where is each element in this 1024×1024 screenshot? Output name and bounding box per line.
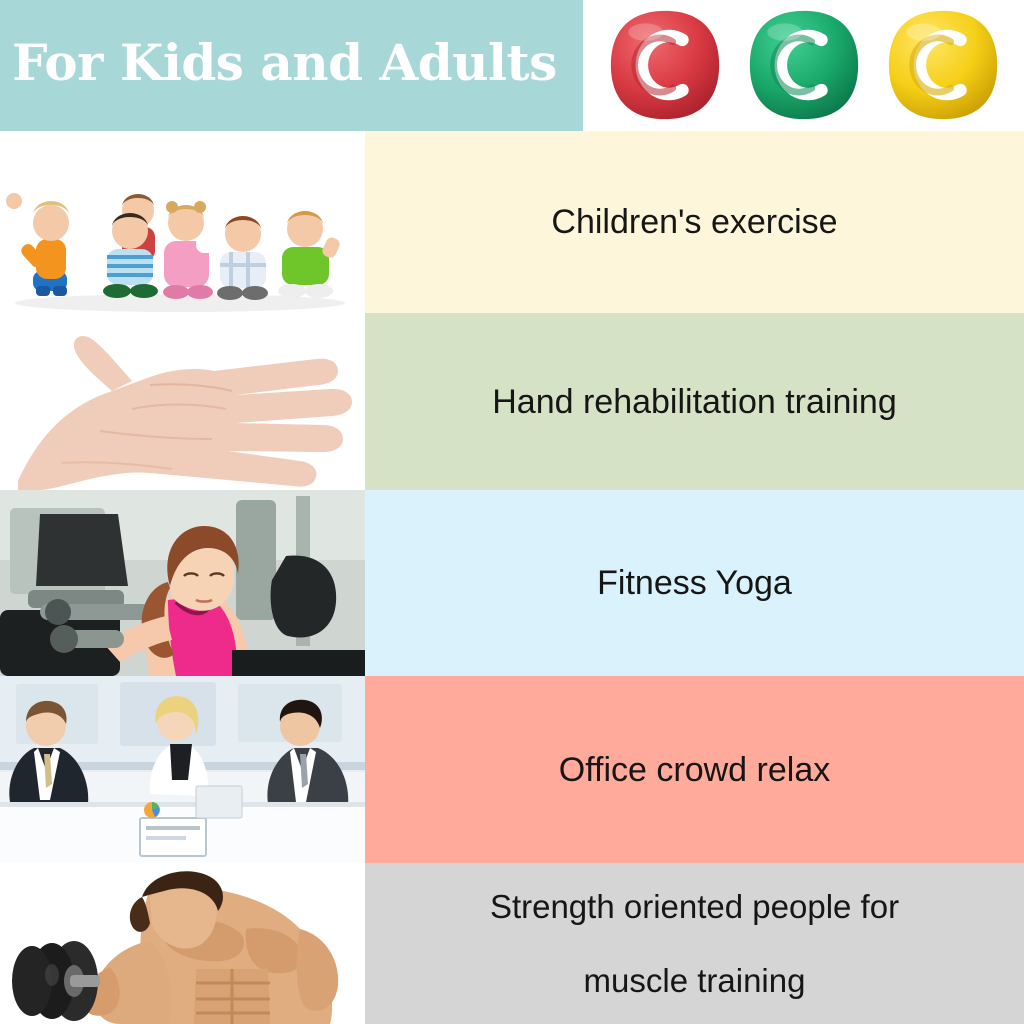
bodybuilder-illustration: [0, 863, 365, 1024]
usecase-label-cell-rehab: Hand rehabilitation training: [365, 313, 1024, 490]
photo-open-palm-hand: [0, 313, 365, 490]
office-illustration: [0, 676, 365, 863]
usecase-row-rehab: Hand rehabilitation training: [0, 313, 1024, 490]
usecase-label: Children's exercise: [537, 195, 851, 249]
usecase-label: Office crowd relax: [545, 743, 844, 797]
usecase-label: Hand rehabilitation training: [478, 375, 910, 429]
usecase-label-line2: muscle training: [584, 962, 806, 999]
gym-woman-illustration: [0, 490, 365, 676]
header-banner: For Kids and Adults: [0, 0, 583, 131]
usecase-label: Strength oriented people for muscle trai…: [476, 870, 913, 1018]
usecase-label-cell-office: Office crowd relax: [365, 676, 1024, 863]
usecase-label-line1: Strength oriented people for: [490, 888, 899, 925]
product-hero-strip: [583, 0, 1024, 131]
grip-product-green: [746, 7, 862, 123]
c-shaped-grip-icon: [607, 7, 723, 123]
usecase-row-office: Office crowd relax: [0, 676, 1024, 863]
c-shaped-grip-icon: [746, 7, 862, 123]
hand-illustration: [0, 313, 365, 490]
grip-product-red: [607, 7, 723, 123]
children-illustration: [0, 131, 365, 313]
dumbbell: [12, 941, 100, 1021]
grip-product-yellow: [885, 7, 1001, 123]
c-shaped-grip-icon: [885, 7, 1001, 123]
usecase-row-fitness: Fitness Yoga: [0, 490, 1024, 676]
usecase-label-cell-children: Children's exercise: [365, 131, 1024, 313]
usecase-label-cell-strength: Strength oriented people for muscle trai…: [365, 863, 1024, 1024]
photo-group-of-children: [0, 131, 365, 313]
photo-woman-in-gym: [0, 490, 365, 676]
grip-product-group: [583, 0, 1024, 131]
usecase-label-cell-fitness: Fitness Yoga: [365, 490, 1024, 676]
page-title: For Kids and Adults: [12, 34, 572, 92]
photo-muscular-man: [0, 863, 365, 1024]
usecase-row-strength: Strength oriented people for muscle trai…: [0, 863, 1024, 1024]
photo-business-meeting: [0, 676, 365, 863]
usecase-label: Fitness Yoga: [583, 556, 806, 610]
usecase-row-children: Children's exercise: [0, 131, 1024, 313]
product-infographic: For Kids and Adults: [0, 0, 1024, 1024]
